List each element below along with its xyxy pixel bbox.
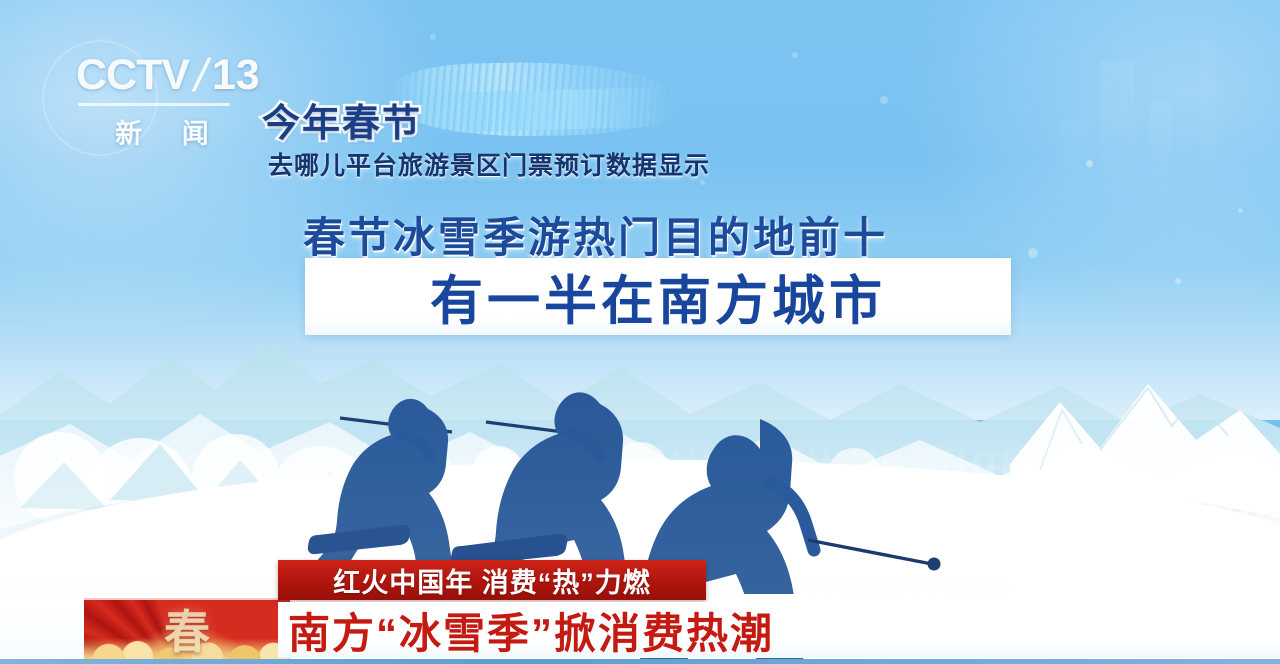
logo-channel-number: 13	[212, 51, 260, 100]
main-headline-text: 南方“冰雪季”掀消费热潮	[288, 600, 774, 661]
cctv-logo-icon: CCTV / 13 新 闻	[76, 48, 276, 144]
kicker-text: 今年春节	[262, 92, 422, 147]
subkicker-text: 去哪儿平台旅游景区门票预订数据显示	[268, 146, 710, 182]
ski-pole-basket	[928, 558, 941, 571]
headline-line-2: 有一半在南方城市	[305, 258, 1011, 335]
festival-character: 春	[164, 598, 210, 662]
main-headline-banner: 南方“冰雪季”掀消费热潮	[278, 602, 1280, 658]
ski-pole	[808, 540, 932, 564]
bottom-rule	[0, 659, 1280, 664]
broadcast-frame: CCTV / 13 新 闻 今年春节 去哪儿平台旅游景区门票预订数据显示 春节冰…	[0, 0, 1280, 664]
brush-stroke-decoration	[420, 87, 671, 134]
logo-slash-icon: /	[189, 48, 213, 102]
spring-festival-fu-icon: 春	[84, 598, 290, 664]
topic-banner-text: 红火中国年 消费“热”力燃	[333, 561, 651, 600]
logo-ring-decoration	[42, 40, 158, 156]
topic-banner: 红火中国年 消费“热”力燃	[278, 560, 706, 600]
headline-line-1: 春节冰雪季游热门目的地前十	[303, 204, 888, 265]
